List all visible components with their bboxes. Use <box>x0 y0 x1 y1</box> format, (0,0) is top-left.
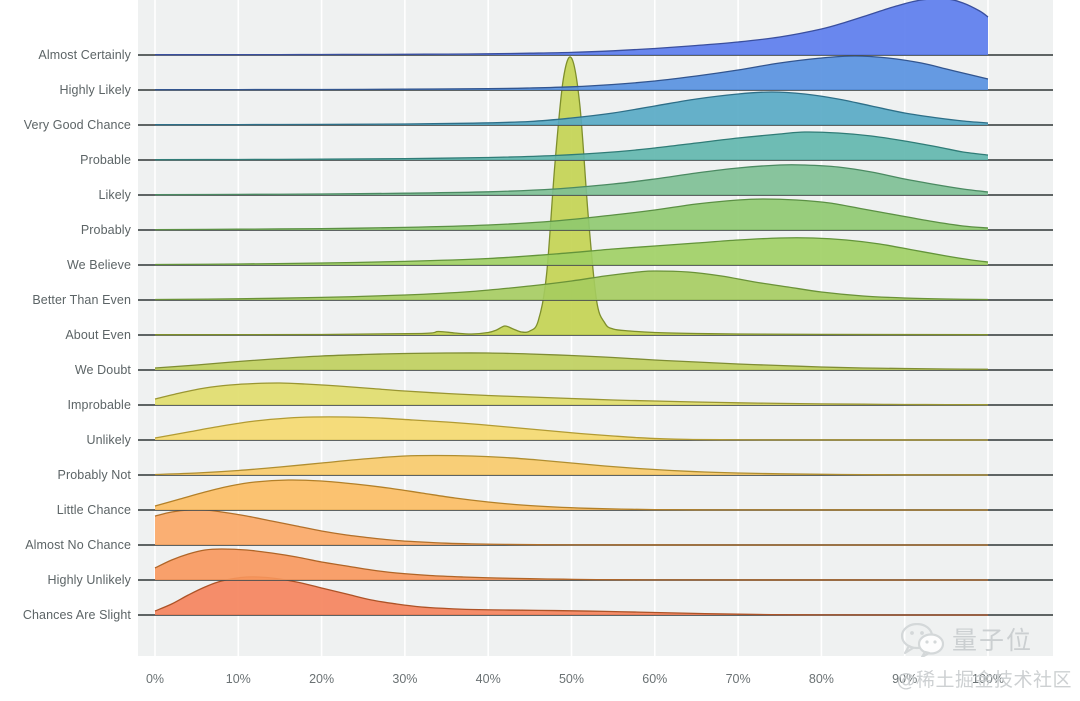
y-tick-label: We Believe <box>67 258 131 272</box>
y-tick-label: Better Than Even <box>32 293 131 307</box>
x-tick-label: 40% <box>476 672 501 686</box>
y-tick-label: We Doubt <box>75 363 131 377</box>
y-tick-label: Probable <box>80 153 131 167</box>
x-tick-label: 30% <box>392 672 417 686</box>
x-tick-label: 100% <box>972 672 1004 686</box>
y-tick-label: Almost No Chance <box>25 538 131 552</box>
x-tick-label: 80% <box>809 672 834 686</box>
y-tick-label: Likely <box>98 188 131 202</box>
y-tick-label: Improbable <box>67 398 131 412</box>
y-axis-labels: Almost CertainlyHighly LikelyVery Good C… <box>0 0 131 701</box>
ridgeline-plot-area <box>0 0 1080 701</box>
x-tick-label: 60% <box>642 672 667 686</box>
x-tick-label: 0% <box>146 672 164 686</box>
x-tick-label: 90% <box>892 672 917 686</box>
ridgeline-chart: Almost CertainlyHighly LikelyVery Good C… <box>0 0 1080 701</box>
y-tick-label: Probably <box>81 223 131 237</box>
y-tick-label: About Even <box>65 328 131 342</box>
y-tick-label: Highly Unlikely <box>48 573 131 587</box>
y-tick-label: Unlikely <box>86 433 131 447</box>
y-tick-label: Little Chance <box>57 503 131 517</box>
x-tick-label: 10% <box>226 672 251 686</box>
y-tick-label: Highly Likely <box>60 83 131 97</box>
y-tick-label: Probably Not <box>58 468 131 482</box>
x-tick-label: 20% <box>309 672 334 686</box>
x-tick-label: 70% <box>726 672 751 686</box>
y-tick-label: Almost Certainly <box>38 48 131 62</box>
y-tick-label: Very Good Chance <box>24 118 131 132</box>
x-tick-label: 50% <box>559 672 584 686</box>
y-tick-label: Chances Are Slight <box>23 608 131 622</box>
